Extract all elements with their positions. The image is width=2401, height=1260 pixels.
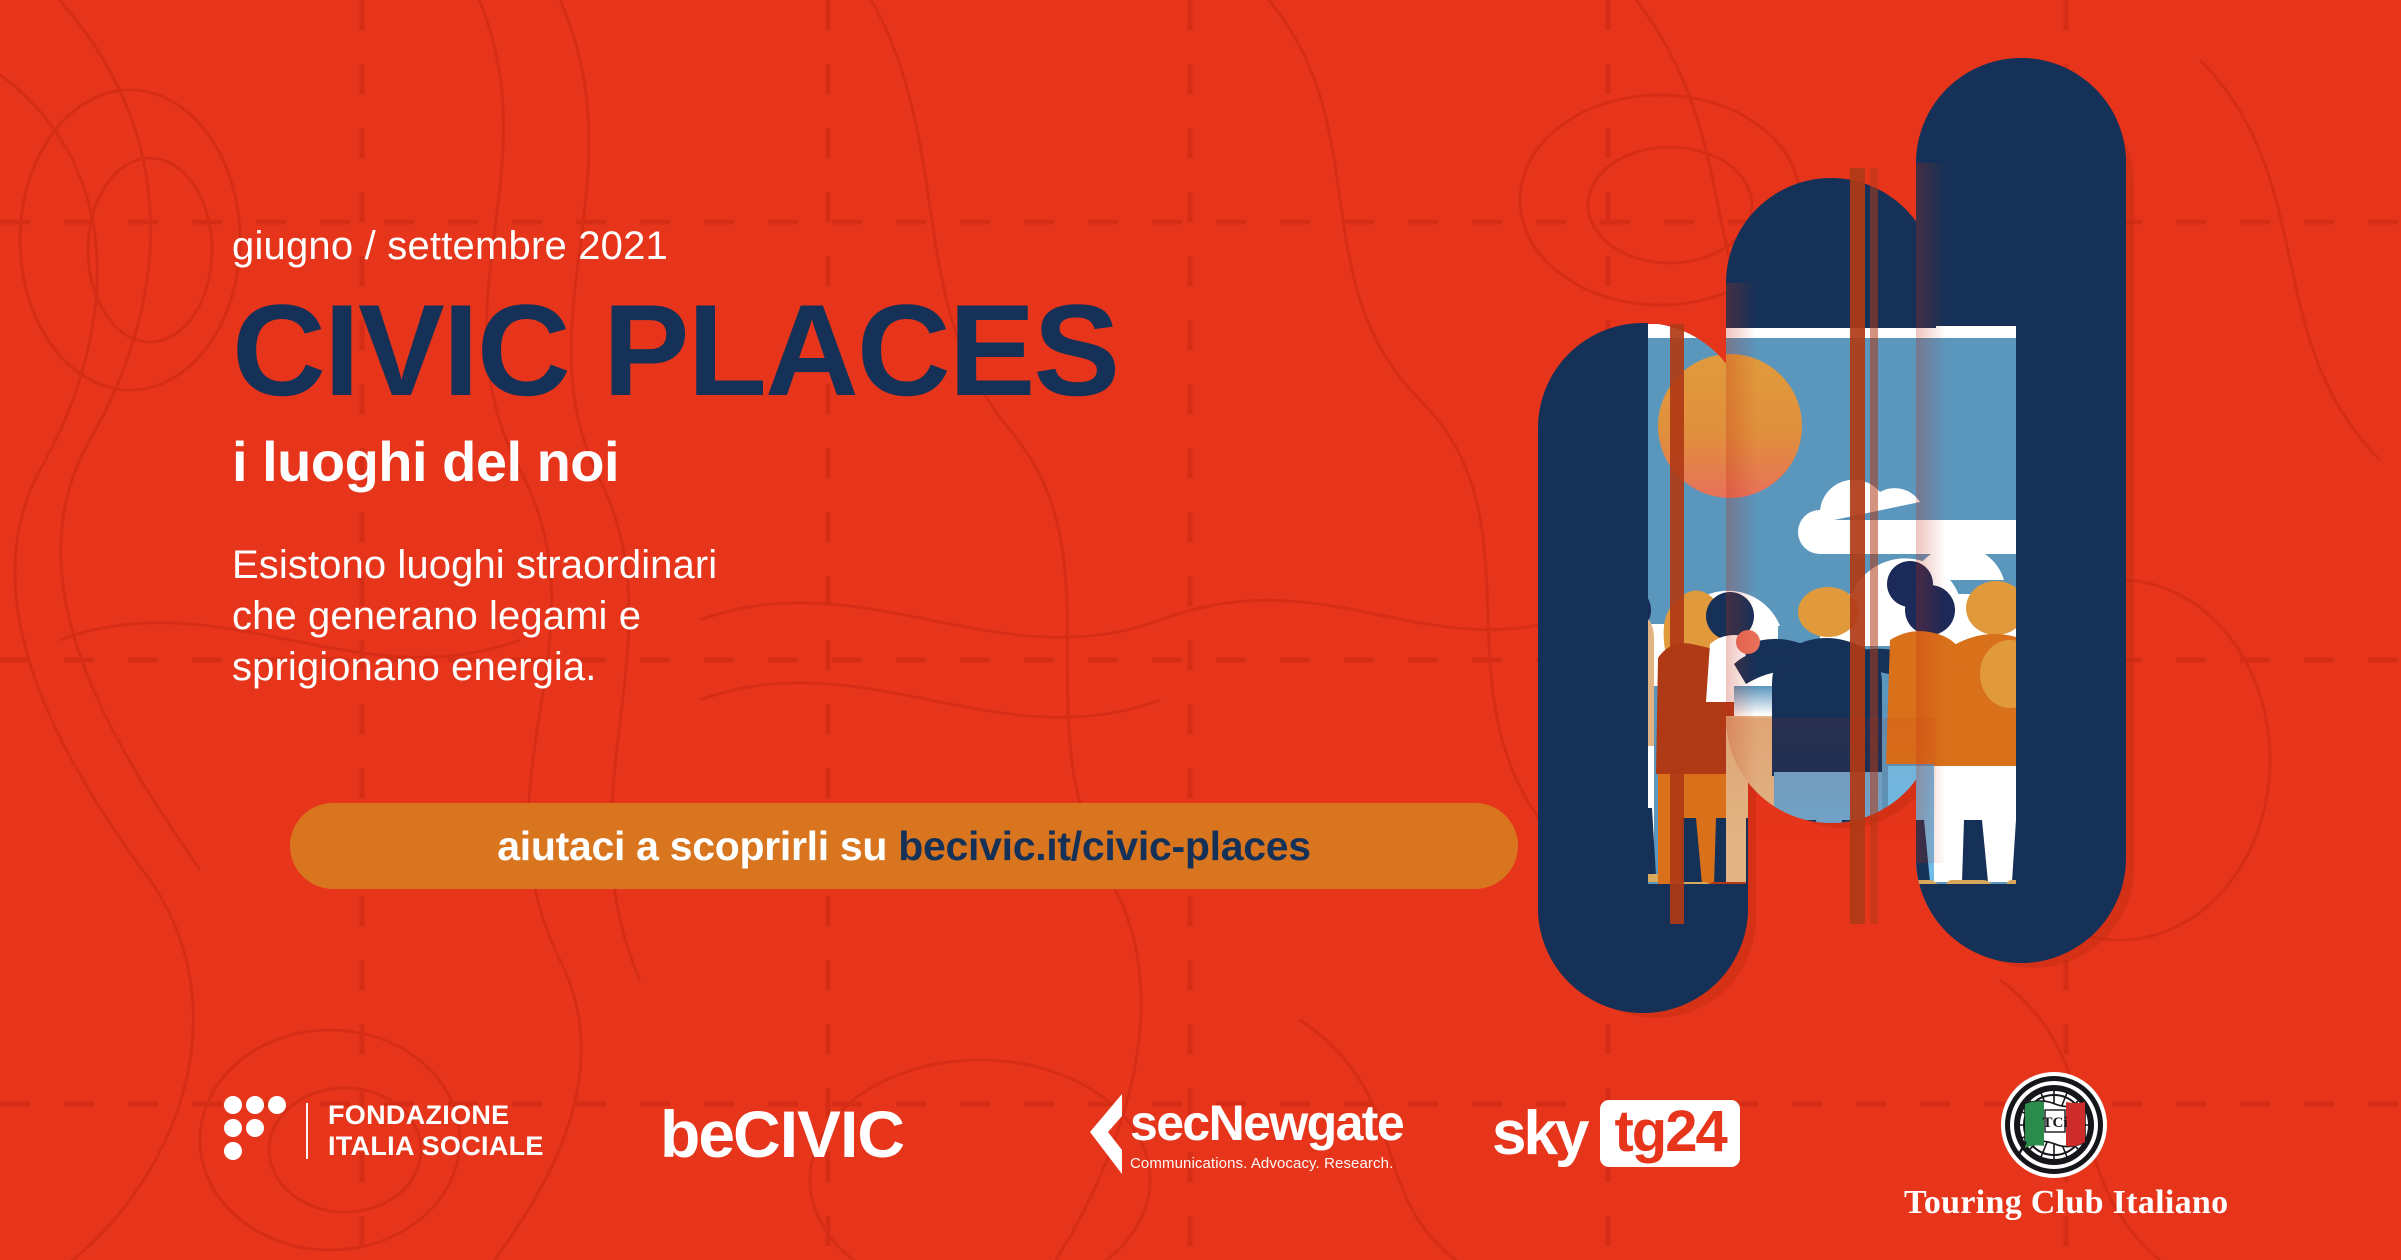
- fondazione-wordmark: FONDAZIONE ITALIA SOCIALE: [328, 1100, 544, 1163]
- cta-button[interactable]: aiutaci a scoprirli su becivic.it/civic-…: [290, 803, 1518, 889]
- civic-places-banner: giugno / settembre 2021 CIVIC PLACES i l…: [0, 0, 2401, 1260]
- logo-sky-tg24[interactable]: sky tg24: [1492, 1100, 1740, 1167]
- logo-fondazione-italia-sociale[interactable]: FONDAZIONE ITALIA SOCIALE: [224, 1096, 544, 1166]
- partner-logo-strip: FONDAZIONE ITALIA SOCIALE beCIVIC secNew…: [0, 1070, 2401, 1230]
- page-subtitle: i luoghi del noi: [232, 433, 1492, 492]
- logo-touring-club-italiano[interactable]: TCi Touring Club Italiano: [1904, 1070, 2204, 1222]
- logo-be-civic[interactable]: beCIVIC: [660, 1096, 904, 1172]
- description-text: Esistono luoghi straordinari che generan…: [232, 540, 1492, 694]
- fondazione-dot-mark-icon: [224, 1096, 286, 1166]
- illustration-civic-places: [1498, 28, 2138, 1048]
- description-line-1: Esistono luoghi straordinari: [232, 540, 1492, 591]
- becivic-be-word: be: [660, 1097, 733, 1171]
- description-line-2: che generano legami e: [232, 591, 1492, 642]
- sec-newgate-name: secNewgate: [1130, 1098, 1403, 1148]
- date-range-label: giugno / settembre 2021: [232, 224, 1492, 268]
- touring-club-italiano-wordmark: Touring Club Italiano: [1904, 1184, 2204, 1222]
- fondazione-line-1: FONDAZIONE: [328, 1100, 544, 1131]
- text-column: giugno / settembre 2021 CIVIC PLACES i l…: [232, 224, 1492, 693]
- divider: [306, 1103, 308, 1159]
- chevron-bracket-icon: [1082, 1092, 1124, 1176]
- description-line-3: sprigionano energia.: [232, 642, 1492, 693]
- cta-prefix: aiutaci a scoprirli su: [497, 823, 898, 869]
- navy-arch-middle: [1726, 178, 1946, 328]
- becivic-civic-word: CIVIC: [733, 1097, 904, 1171]
- tg24-wordmark: tg24: [1614, 1102, 1725, 1161]
- fondazione-line-2: ITALIA SOCIALE: [328, 1131, 544, 1162]
- sec-newgate-tagline: Communications. Advocacy. Research.: [1130, 1155, 1403, 1172]
- cta-label: aiutaci a scoprirli su becivic.it/civic-…: [497, 823, 1310, 870]
- tg24-badge: tg24: [1600, 1100, 1739, 1167]
- tci-emblem-text: TCi: [2042, 1115, 2067, 1131]
- cta-url[interactable]: becivic.it/civic-places: [898, 823, 1310, 869]
- logo-sec-newgate[interactable]: secNewgate Communications. Advocacy. Res…: [1082, 1092, 1403, 1176]
- page-title: CIVIC PLACES: [232, 290, 1492, 411]
- tci-wheel-emblem-icon: TCi: [1999, 1070, 2109, 1180]
- sec-newgate-wordmark: secNewgate Communications. Advocacy. Res…: [1130, 1092, 1403, 1172]
- sky-wordmark: sky: [1492, 1103, 1586, 1165]
